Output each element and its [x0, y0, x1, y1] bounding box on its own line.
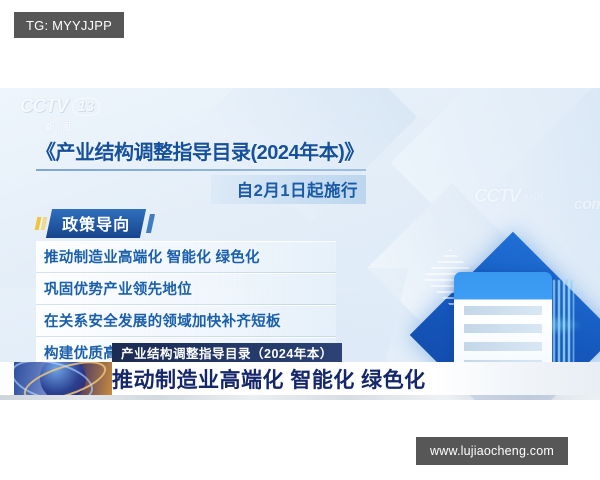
lower-third-headline: 推动制造业高端化 智能化 绿色化	[112, 362, 426, 395]
headline-block: 《产业结构调整指导目录(2024年本)》 自2月1日起施行 政策导向 推动制造业…	[36, 136, 381, 369]
title-divider	[36, 169, 366, 171]
policy-badge-label: 政策导向	[62, 211, 130, 235]
policy-direction-badge: 政策导向	[46, 209, 146, 238]
cctv-logo-row: CCTV 13	[12, 96, 108, 118]
cctv-com-zh: 央视网	[522, 194, 545, 201]
cctv-channel-subtitle: 新闻	[12, 119, 108, 135]
lower-third-underbar	[0, 395, 600, 400]
lower-third-banner: 产业结构调整指导目录（2024年本） 推动制造业高端化 智能化 绿色化	[0, 343, 600, 400]
policy-badge-row: 政策导向	[36, 213, 381, 235]
list-item: 巩固优势产业领先地位	[36, 273, 336, 305]
cctv-com-mark: 央视网 com	[522, 186, 545, 204]
subtitle-row: 自2月1日起施行	[36, 175, 366, 204]
globe-orbit-icon	[14, 362, 112, 395]
bottom-right-watermark: www.lujiaocheng.com	[416, 437, 568, 465]
cctv-com-watermark: CCTV 央视网 com	[474, 186, 544, 208]
lower-third-kicker: 产业结构调整指导目录（2024年本）	[112, 343, 342, 362]
list-item: 推动制造业高端化 智能化 绿色化	[36, 241, 336, 273]
list-item: 在关系安全发展的领域加快补齐短板	[36, 305, 336, 337]
main-title: 《产业结构调整指导目录(2024年本)》	[36, 136, 381, 165]
document-line	[464, 324, 542, 333]
video-frame[interactable]: CCTV 13 新闻 CCTV 央视网 com 《产业结构调整指导目录(2024…	[0, 88, 600, 400]
badge-accent-dots-icon	[35, 217, 48, 230]
cctv-com-wordmark: CCTV	[474, 186, 520, 208]
cctv-channel-logo: CCTV 13 新闻	[12, 96, 108, 135]
cctv-com-suffix: com	[574, 196, 600, 214]
effective-date-subtitle: 自2月1日起施行	[211, 175, 366, 204]
badge-tail-accent-icon	[146, 214, 155, 233]
cctv-channel-number: 13	[72, 98, 101, 116]
document-line	[464, 306, 542, 315]
top-left-watermark: TG: MYYJJPP	[14, 12, 124, 38]
cctv-wordmark: CCTV	[20, 96, 68, 118]
